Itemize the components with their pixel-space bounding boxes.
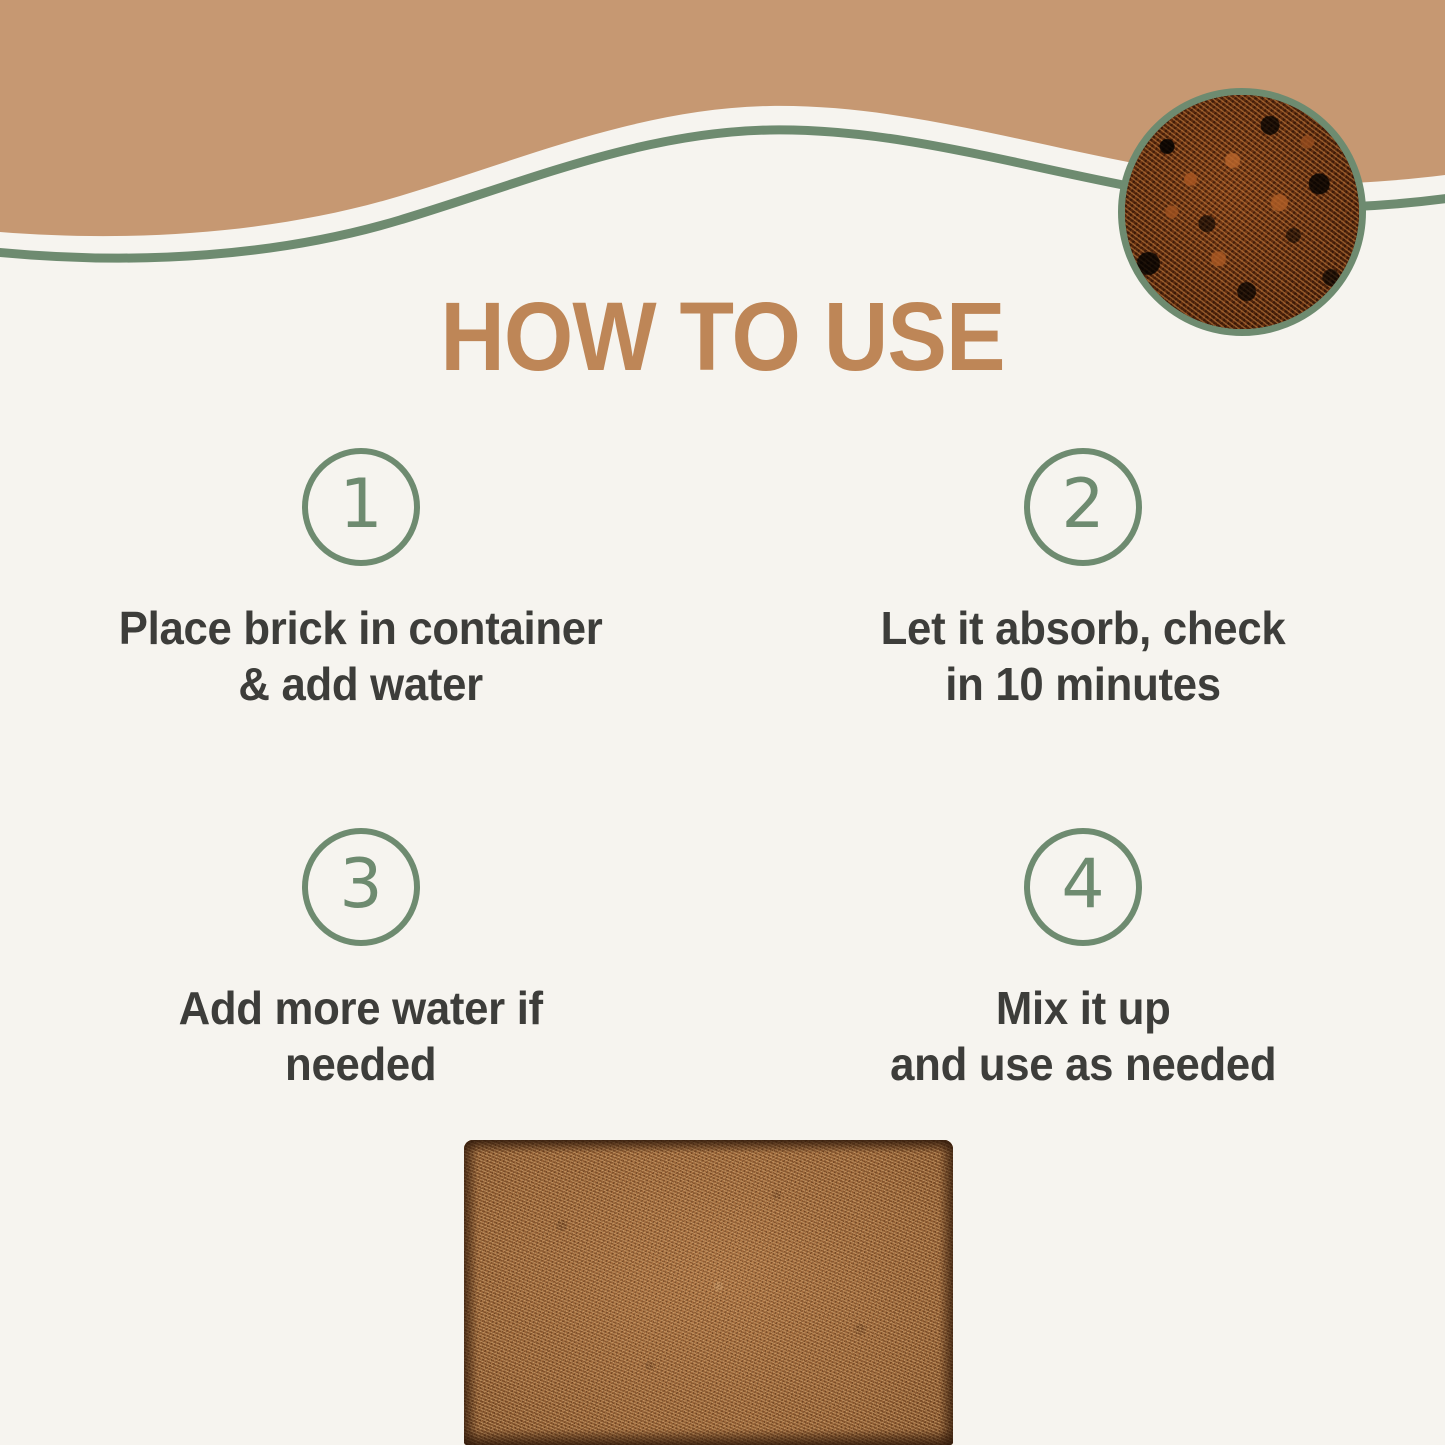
step-label-1: Place brick in container & add water xyxy=(119,600,603,712)
step-label-4: Mix it up and use as needed xyxy=(890,980,1276,1092)
step-label-2: Let it absorb, check in 10 minutes xyxy=(881,600,1286,712)
step-2: 2 Let it absorb, check in 10 minutes xyxy=(722,448,1444,712)
step-number-badge-2: 2 xyxy=(1024,448,1142,566)
coir-brick-texture xyxy=(464,1140,953,1445)
steps-row-top: 1 Place brick in container & add water 2… xyxy=(0,448,1445,712)
coir-brick-edge-top xyxy=(464,1140,953,1153)
coir-brick-edge-left xyxy=(464,1140,478,1445)
page-title: HOW TO USE xyxy=(58,286,1387,388)
step-number-badge-1: 1 xyxy=(302,448,420,566)
step-number-badge-3: 3 xyxy=(302,828,420,946)
how-to-use-infographic: HOW TO USE 1 Place brick in container & … xyxy=(0,0,1445,1445)
step-number-badge-4: 4 xyxy=(1024,828,1142,946)
step-1: 1 Place brick in container & add water xyxy=(0,448,722,712)
step-3: 3 Add more water if needed xyxy=(0,828,722,1092)
step-label-3: Add more water if needed xyxy=(179,980,543,1092)
step-4: 4 Mix it up and use as needed xyxy=(722,828,1444,1092)
coir-brick-edge-bottom xyxy=(464,1429,953,1445)
steps-row-bottom: 3 Add more water if needed 4 Mix it up a… xyxy=(0,828,1445,1092)
steps-container: 1 Place brick in container & add water 2… xyxy=(0,448,1445,1092)
coir-brick-image xyxy=(464,1140,953,1445)
coir-brick-edge-right xyxy=(939,1140,953,1445)
